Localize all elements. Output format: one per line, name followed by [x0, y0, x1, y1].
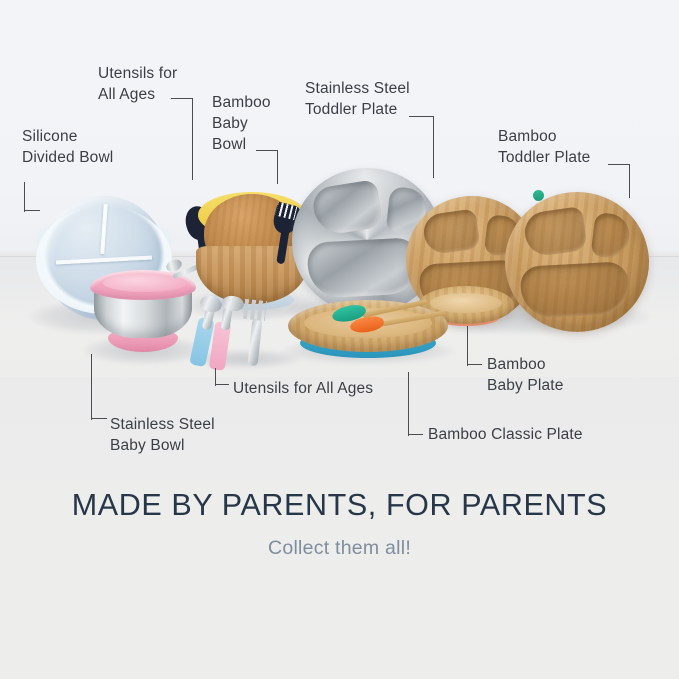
- product-scene: Silicone Divided Bowl Utensils for All A…: [0, 0, 679, 480]
- bamboo-toddler-rear-compartment-1: [421, 208, 480, 255]
- ss-toddler-plate-compartment-3: [307, 237, 422, 299]
- footer-headline: MADE BY PARENTS, FOR PARENTS: [0, 486, 679, 524]
- label-bamboo-baby-bowl: Bamboo Baby Bowl: [212, 92, 271, 155]
- steel-fork-tines: [243, 299, 267, 321]
- label-silicone-divided-bowl: Silicone Divided Bowl: [22, 126, 113, 168]
- label-bamboo-toddler-plate: Bamboo Toddler Plate: [498, 126, 590, 168]
- bamboo-toddler-front-compartment-2: [590, 212, 631, 260]
- footer-block: MADE BY PARENTS, FOR PARENTS Collect the…: [0, 486, 679, 560]
- label-utensils-for-all-ages-top: Utensils for All Ages: [98, 63, 177, 105]
- footer-subline: Collect them all!: [0, 537, 679, 560]
- product-bamboo-toddler-plate-front: [505, 192, 649, 332]
- bamboo-toddler-front-compartment-1: [522, 206, 588, 258]
- label-bamboo-baby-plate: Bamboo Baby Plate: [487, 354, 563, 396]
- bamboo-toddler-front-compartment-3: [520, 261, 631, 319]
- label-stainless-steel-baby-bowl: Stainless Steel Baby Bowl: [110, 414, 215, 456]
- product-stainless-steel-baby-bowl: [88, 270, 198, 362]
- label-utensils-for-all-ages-bottom: Utensils for All Ages: [233, 378, 373, 399]
- label-bamboo-classic-plate: Bamboo Classic Plate: [428, 424, 583, 445]
- infographic-canvas: Silicone Divided Bowl Utensils for All A…: [0, 0, 679, 679]
- label-stainless-steel-toddler-plate: Stainless Steel Toddler Plate: [305, 78, 410, 120]
